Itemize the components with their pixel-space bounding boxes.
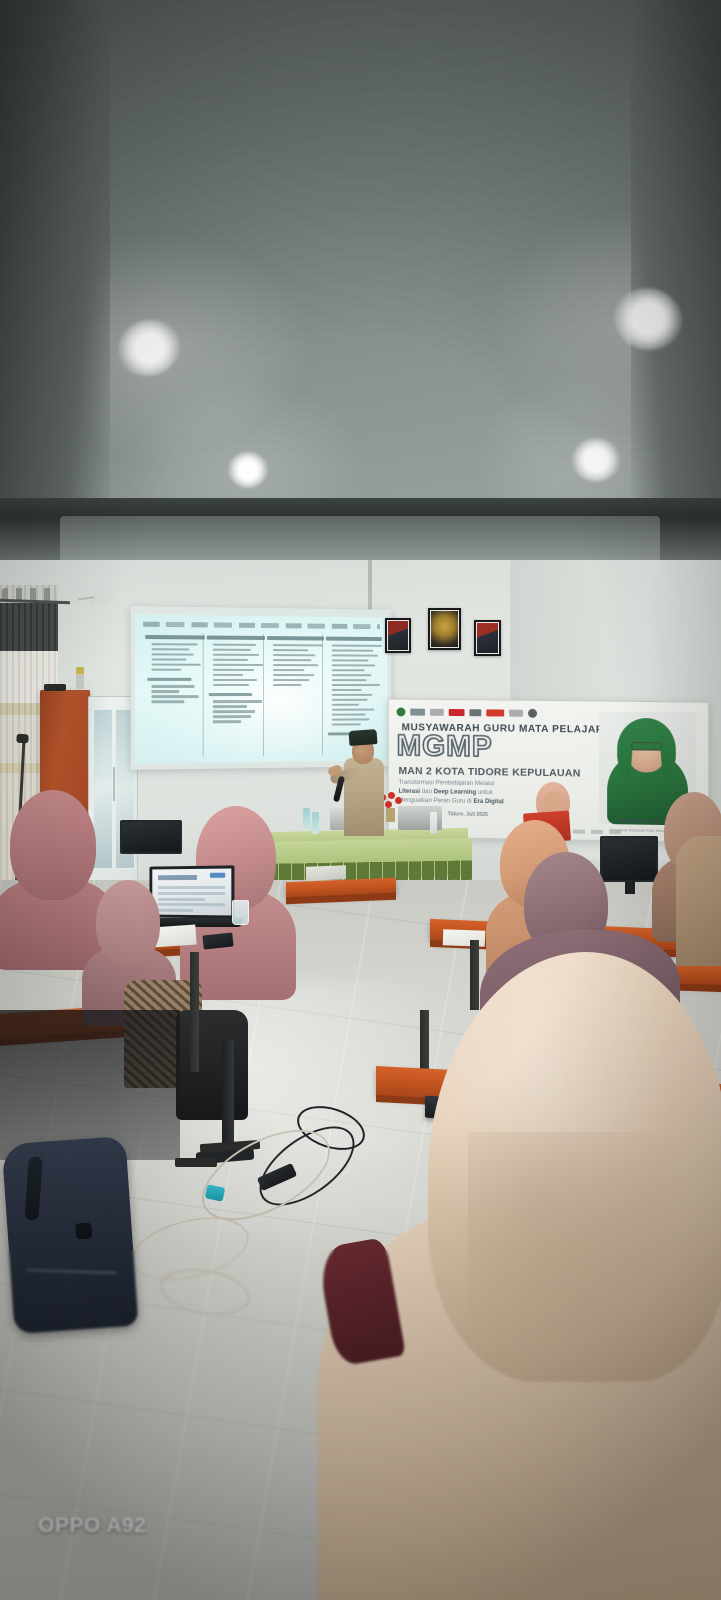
- hijab-fold-shadow: [468, 1132, 698, 1352]
- presenter-with-microphone: [330, 722, 386, 834]
- laptop-screen: [149, 865, 234, 918]
- monitor-pole: [222, 1040, 234, 1156]
- projected-header-line: [143, 622, 380, 630]
- partner-logo-icon: [509, 709, 523, 716]
- photo-canvas: MUSYAWARAH GURU MATA PELAJARAN MGMP MAN …: [0, 0, 721, 1600]
- desk: [286, 878, 396, 899]
- laptop[interactable]: [148, 866, 242, 927]
- ceiling-edge-left: [0, 0, 110, 540]
- black-bag: [176, 1010, 248, 1120]
- ceiling-light-icon: [572, 438, 620, 482]
- banner-acronym: MGMP: [397, 731, 493, 762]
- projected-column: [145, 635, 204, 706]
- ceiling-light-icon: [228, 452, 268, 488]
- madrasah-logo-icon: [410, 708, 425, 715]
- garuda-pancasila-emblem: [428, 608, 461, 650]
- ceiling-edge-right: [631, 0, 721, 540]
- kemenag-logo-icon: [397, 707, 406, 716]
- banner-logo-row: [397, 705, 610, 719]
- school-logo-icon: [528, 708, 537, 717]
- backpack-buckle: [75, 1222, 92, 1239]
- drinking-glass: [232, 900, 249, 925]
- banner-theme-untuk: untuk: [476, 789, 493, 796]
- president-portrait: [385, 618, 411, 653]
- banner-theme-conj: dan: [420, 788, 434, 795]
- vice-president-portrait: [474, 620, 501, 656]
- flower-vase: [76, 667, 84, 689]
- partner-logo-icon: [469, 709, 481, 716]
- banner-theme-eradigital: Era Digital: [473, 798, 503, 805]
- partner-logo-icon: [430, 708, 444, 715]
- desk-leg: [190, 952, 199, 1072]
- flower-vase: [386, 808, 395, 822]
- projected-column: [207, 635, 265, 725]
- desktop-monitor: [120, 820, 182, 854]
- banner-theme: Transformasi Pembelajaran Melalui Litera…: [399, 779, 547, 808]
- banner-theme-menguatkan: Menguatkan Peran Guru di: [399, 797, 474, 805]
- banner-date: Tidore, Juli 2025: [448, 811, 488, 818]
- camera-watermark: OPPO A92: [38, 1514, 146, 1538]
- water-bottle: [312, 812, 319, 834]
- glasses-icon: [631, 742, 661, 750]
- desktop-monitor: [600, 836, 658, 882]
- banner-subtitle: MAN 2 KOTA TIDORE KEPULAUAN: [399, 765, 598, 780]
- peci-cap-icon: [349, 729, 378, 746]
- partner-logo-icon: [486, 709, 504, 716]
- banner-theme-deeplearning: Deep Learning: [434, 788, 476, 796]
- backpack-zipper: [27, 1268, 117, 1274]
- foreground-participant: [318, 952, 721, 1600]
- navy-backpack: [2, 1136, 139, 1334]
- notebook: [306, 865, 346, 880]
- backpack-strap: [24, 1156, 42, 1221]
- projected-column: [267, 636, 324, 689]
- partner-logo-icon: [449, 708, 465, 715]
- water-bottle: [303, 808, 310, 830]
- desk-foot: [175, 1158, 217, 1167]
- cabinet-glass-door-left: [93, 709, 113, 869]
- water-bottle: [430, 812, 437, 834]
- monitor-stand: [625, 882, 635, 894]
